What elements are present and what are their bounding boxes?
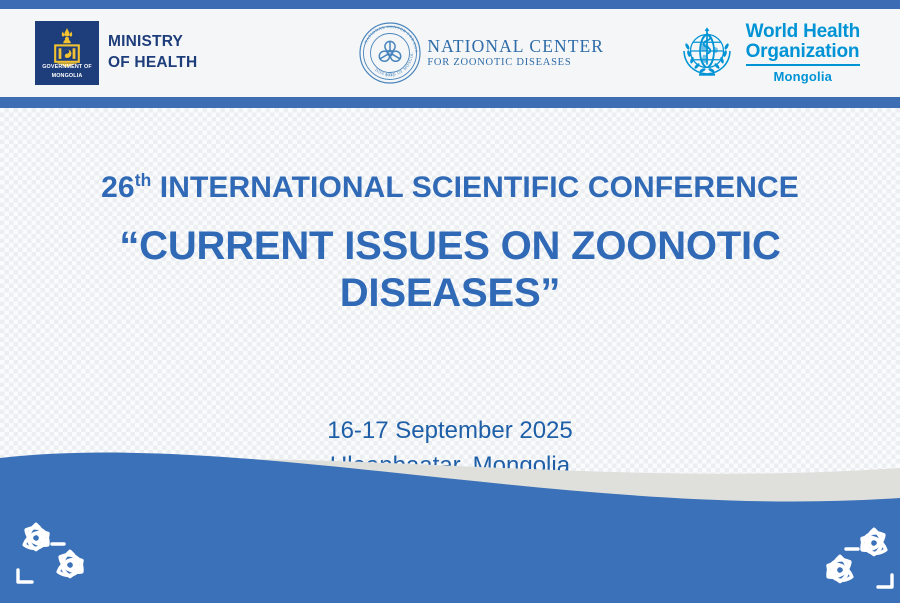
- top-accent-bar: [0, 0, 900, 9]
- who-country-label: Mongolia: [746, 69, 860, 84]
- event-meta: 16-17 September 2025 Ulaanbaatar, Mongol…: [0, 414, 900, 484]
- who-globe-laurel-asclepius-icon: [676, 22, 738, 84]
- conference-heading: 26th INTERNATIONAL SCIENTIFIC CONFERENCE: [0, 170, 900, 206]
- national-center-subtitle: FOR ZOONOTIC DISEASES: [427, 57, 604, 69]
- national-center-name: NATIONAL CENTER: [427, 37, 604, 57]
- ministry-name: MINISTRY OF HEALTH: [108, 32, 197, 73]
- conference-title-slide: GOVERNMENT OF MONGOLIA MINISTRY OF HEALT…: [0, 0, 900, 603]
- who-wordmark: World Health Organization Mongolia: [746, 22, 860, 85]
- triquetra-knot-pair-icon-right: [810, 523, 896, 595]
- conference-theme-line2: DISEASES”: [0, 270, 900, 317]
- conference-label: INTERNATIONAL SCIENTIFIC CONFERENCE: [160, 171, 799, 204]
- conference-ordinal: th: [135, 170, 152, 190]
- event-dates: 16-17 September 2025: [0, 414, 900, 449]
- event-location: Ulaanbaatar, Mongolia: [0, 449, 900, 484]
- svg-text:NATIONAL CENTER FOR ZOONOTIC: NATIONAL CENTER FOR ZOONOTIC: [357, 20, 419, 53]
- who-name-line2: Organization: [746, 42, 860, 62]
- national-center-logo: NATIONAL CENTER FOR ZOONOTIC DISEASES OF…: [357, 20, 604, 86]
- conference-number: 26: [101, 171, 135, 204]
- ministry-name-line2: OF HEALTH: [108, 53, 197, 74]
- zoonotic-triskelion-seal-icon: NATIONAL CENTER FOR ZOONOTIC DISEASES OF…: [357, 20, 423, 86]
- mongolia-state-emblem: GOVERNMENT OF MONGOLIA: [35, 21, 99, 85]
- ministry-name-line1: MINISTRY: [108, 32, 197, 53]
- title-block: 26th INTERNATIONAL SCIENTIFIC CONFERENCE…: [0, 170, 900, 317]
- triquetra-knot-pair-icon-left: [14, 518, 100, 590]
- who-logo: World Health Organization Mongolia: [676, 22, 860, 85]
- seal-year: 1951: [385, 73, 395, 78]
- conference-theme: “CURRENT ISSUES ON ZOONOTIC DISEASES”: [0, 223, 900, 317]
- who-divider: [746, 64, 860, 66]
- who-name-line1: World Health: [746, 22, 860, 42]
- header-bottom-accent-bar: [0, 97, 900, 108]
- conference-theme-line1: “CURRENT ISSUES ON ZOONOTIC: [0, 223, 900, 270]
- national-center-text: NATIONAL CENTER FOR ZOONOTIC DISEASES: [427, 37, 604, 69]
- emblem-caption-line1: GOVERNMENT OF: [35, 65, 99, 70]
- emblem-caption-line2: MONGOLIA: [35, 74, 99, 79]
- mongolia-soyombo-emblem-icon: [50, 27, 84, 67]
- ministry-of-health-logo: GOVERNMENT OF MONGOLIA MINISTRY OF HEALT…: [35, 21, 197, 85]
- logo-row: GOVERNMENT OF MONGOLIA MINISTRY OF HEALT…: [0, 9, 900, 97]
